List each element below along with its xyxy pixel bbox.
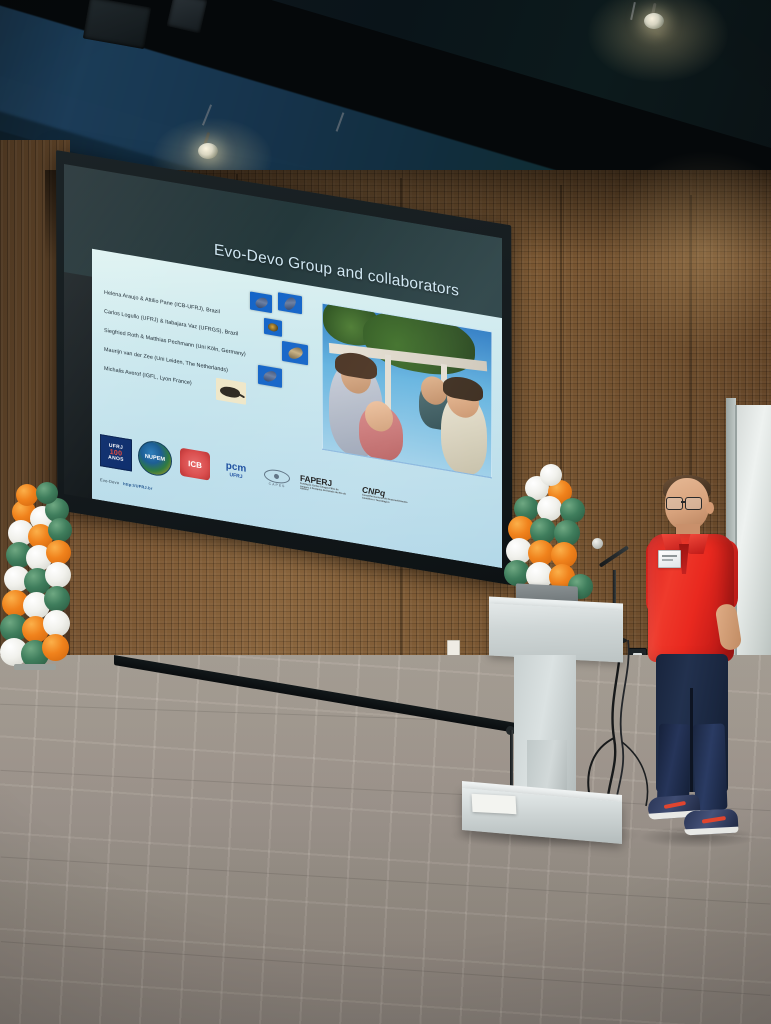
podium-desk <box>489 603 623 662</box>
glasses-icon <box>666 497 683 510</box>
logo-faperj-sub: Fundação Carlos Chagas Filho de Amparo à… <box>300 483 348 498</box>
paper-on-floor[interactable] <box>472 794 517 814</box>
logo-icb-label: ICB <box>188 458 202 469</box>
logo-capes: CAPES <box>260 463 294 495</box>
embryo-thumb-2 <box>278 292 302 314</box>
presenter-left-leg <box>657 724 691 807</box>
light-wash-2 <box>588 0 728 82</box>
logo-cnpq: CNPq Conselho Nacional de Desenvolviment… <box>362 479 410 513</box>
spotlight-2 <box>644 13 664 29</box>
presenter-right-shoe <box>683 809 738 836</box>
embryo-thumb-3 <box>264 318 282 337</box>
logo-capes-label: CAPES <box>269 483 286 489</box>
presenter-ear <box>706 502 714 514</box>
family-photo <box>322 303 492 479</box>
microphone-icon[interactable] <box>592 538 603 549</box>
balloon-column-left-base <box>14 664 56 670</box>
logo-icb: ICB <box>180 448 210 481</box>
embryo-thumb-5 <box>258 365 282 388</box>
embryo-thumb-1 <box>250 291 272 313</box>
ceiling-hanger-rod-3 <box>630 2 636 20</box>
logo-pcm: pcm UFRJ <box>218 454 254 488</box>
logo-ufrj-line3: ANOS <box>108 455 124 463</box>
projection-screen: Evo-Devo Group and collaborators Helena … <box>56 150 516 520</box>
logo-faperj: FAPERJ Fundação Carlos Chagas Filho de A… <box>300 469 348 503</box>
logo-ufrj: UFRJ 100 ANOS <box>100 434 132 471</box>
logo-nupem: NUPEM <box>138 439 172 479</box>
glasses-icon <box>685 497 702 510</box>
presenter <box>640 478 760 840</box>
logo-cnpq-sub: Conselho Nacional de Desenvolvimento Cie… <box>362 495 410 508</box>
name-badge <box>658 550 681 568</box>
logo-nupem-label: NUPEM <box>145 454 165 463</box>
embryo-thumb-4 <box>282 341 308 365</box>
glasses-bridge <box>681 501 686 503</box>
jeans-inseam <box>690 688 693 792</box>
logo-pcm-sub: UFRJ <box>229 473 242 480</box>
photo-scene: Evo-Devo Group and collaborators Helena … <box>0 0 771 1024</box>
